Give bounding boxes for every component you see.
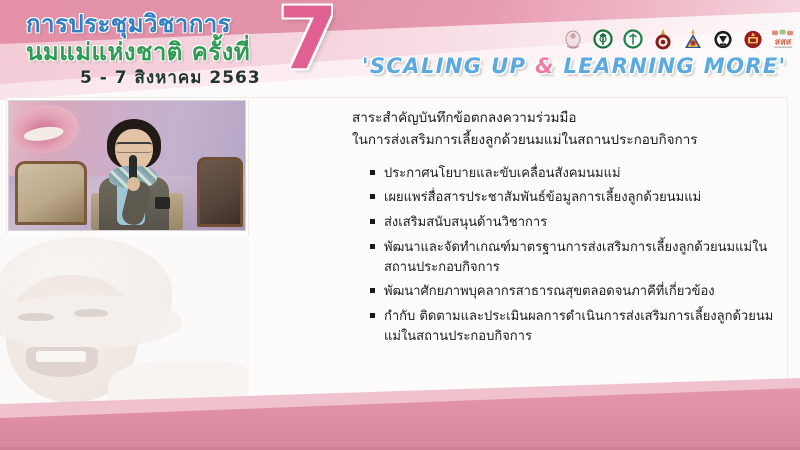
edition-number: 7 xyxy=(278,0,338,82)
stage-chair-left xyxy=(15,161,87,225)
list-item: ส่งเสริมสนับสนุนด้านวิชาการ xyxy=(370,213,776,233)
thai-emblem-red-logo xyxy=(650,27,676,53)
red-crest-logo xyxy=(740,27,766,53)
presentation-slide: การประชุมวิชาการ นมแม่แห่งชาติ ครั้งที่ … xyxy=(0,0,800,450)
stage-chair-right xyxy=(197,157,243,227)
faded-baby-photo xyxy=(0,235,250,405)
svg-text:สสส: สสส xyxy=(775,38,792,48)
speaker-hand xyxy=(127,177,140,191)
speaker-figure xyxy=(91,119,177,231)
thaihealth-sss-logo: สสส xyxy=(770,27,796,53)
garuda-emblem-logo xyxy=(680,27,706,53)
list-item: เผยแพร่สื่อสารประชาสัมพันธ์ข้อมูลการเลี้… xyxy=(370,188,776,208)
black-circle-emblem-logo xyxy=(710,27,736,53)
royal-seal-logo xyxy=(560,27,586,53)
list-item: ประกาศนโยบายและขับเคลื่อนสังคมนมแม่ xyxy=(370,164,776,184)
lead-paragraph: สาระสำคัญบันทึกข้อตกลงความร่วมมือ ในการส… xyxy=(352,108,776,152)
list-item: พัฒนาศักยภาพบุคลากรสาธารณสุขตลอดจนภาคีที… xyxy=(370,282,776,302)
slide-header: การประชุมวิชาการ นมแม่แห่งชาติ ครั้งที่ … xyxy=(0,0,800,96)
lead-line-1: สาระสำคัญบันทึกข้อตกลงความร่วมมือ xyxy=(352,108,776,130)
conference-date: 5 - 7 สิงหาคม 2563 xyxy=(80,64,261,91)
list-item: กำกับ ติดตามและประเมินผลการดำเนินการส่งเ… xyxy=(370,307,776,347)
speaker-video-tile[interactable] xyxy=(8,100,246,231)
ministry-public-health-logo xyxy=(590,27,616,53)
tagline-post: LEARNING MORE' xyxy=(555,54,787,78)
list-item: พัฒนาและจัดทำเกณฑ์มาตรฐานการส่งเสริมการเ… xyxy=(370,238,776,278)
slide-text-column: สาระสำคัญบันทึกข้อตกลงความร่วมมือ ในการส… xyxy=(352,108,776,352)
commitment-bullet-list: ประกาศนโยบายและขับเคลื่อนสังคมนมแม่ เผยแ… xyxy=(352,164,776,347)
baby-photo-fade-overlay xyxy=(0,235,250,405)
presenter-remote xyxy=(155,197,170,209)
partner-logo-strip: สสส xyxy=(560,27,796,53)
tagline-pre: 'SCALING UP xyxy=(362,54,535,78)
conference-tagline: 'SCALING UP & LEARNING MORE' xyxy=(362,54,786,78)
department-health-logo xyxy=(620,27,646,53)
speaker-glasses xyxy=(116,142,152,153)
tagline-ampersand: & xyxy=(535,54,555,78)
lead-line-2: ในการส่งเสริมการเลี้ยงลูกด้วยนมแม่ในสถาน… xyxy=(352,130,776,152)
